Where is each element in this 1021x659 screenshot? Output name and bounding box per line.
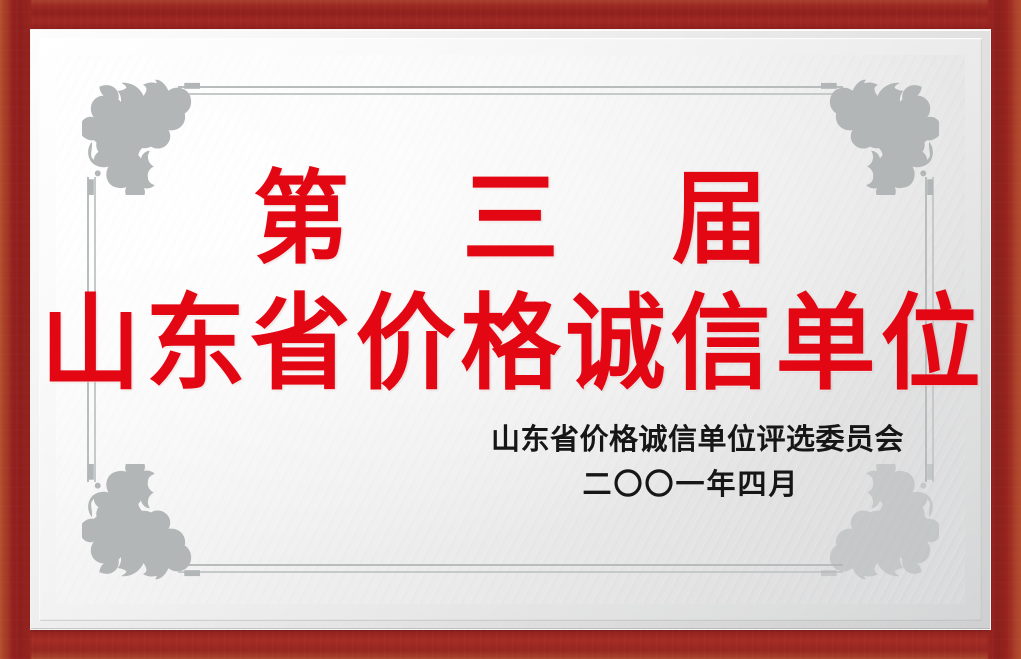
award-plaque: 第 三 届 山东省价格诚信单位 山东省价格诚信单位评选委员会 二〇〇一年四月 <box>0 0 1021 659</box>
signature-block: 山东省价格诚信单位评选委员会 二〇〇一年四月 <box>491 422 891 504</box>
plate-inner-field: 第 三 届 山东省价格诚信单位 山东省价格诚信单位评选委员会 二〇〇一年四月 <box>56 55 965 604</box>
edition-title: 第 三 届 <box>213 168 808 270</box>
award-title: 山东省价格诚信单位 <box>36 291 986 395</box>
silver-plate: 第 三 届 山东省价格诚信单位 山东省价格诚信单位评选委员会 二〇〇一年四月 <box>31 30 990 629</box>
issue-date: 二〇〇一年四月 <box>491 467 891 504</box>
issuing-organization: 山东省价格诚信单位评选委员会 <box>491 422 891 459</box>
plaque-content: 第 三 届 山东省价格诚信单位 <box>56 55 965 604</box>
plate-bevel: 第 三 届 山东省价格诚信单位 山东省价格诚信单位评选委员会 二〇〇一年四月 <box>39 38 982 621</box>
